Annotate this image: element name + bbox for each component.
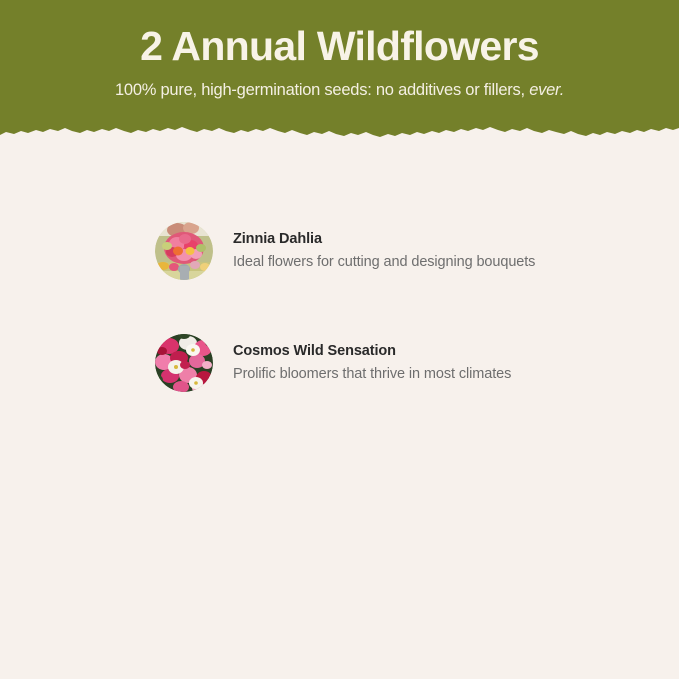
- subtitle-main-text: 100% pure, high-germination seeds: no ad…: [115, 81, 529, 99]
- page-subtitle: 100% pure, high-germination seeds: no ad…: [0, 67, 679, 99]
- product-thumbnail[interactable]: [155, 334, 213, 392]
- header-banner: 2 Annual Wildflowers 100% pure, high-ger…: [0, 0, 679, 141]
- product-description: Prolific bloomers that thrive in most cl…: [233, 362, 511, 384]
- product-list: Zinnia Dahlia Ideal flowers for cutting …: [155, 222, 635, 446]
- product-name: Cosmos Wild Sensation: [233, 342, 511, 362]
- list-item[interactable]: Zinnia Dahlia Ideal flowers for cutting …: [155, 222, 635, 280]
- list-item[interactable]: Cosmos Wild Sensation Prolific bloomers …: [155, 334, 635, 392]
- banner-text-block: 2 Annual Wildflowers 100% pure, high-ger…: [0, 0, 679, 99]
- product-text: Zinnia Dahlia Ideal flowers for cutting …: [213, 230, 535, 272]
- subtitle-emphasis-text: ever.: [529, 81, 564, 99]
- product-thumbnail[interactable]: [155, 222, 213, 280]
- page-title: 2 Annual Wildflowers: [0, 0, 679, 67]
- cosmos-wild-sensation-flowers-photo-icon: [155, 334, 213, 392]
- product-description: Ideal flowers for cutting and designing …: [233, 250, 535, 272]
- product-name: Zinnia Dahlia: [233, 230, 535, 250]
- zinnia-dahlia-bouquet-photo-icon: [155, 222, 213, 280]
- product-text: Cosmos Wild Sensation Prolific bloomers …: [213, 342, 511, 384]
